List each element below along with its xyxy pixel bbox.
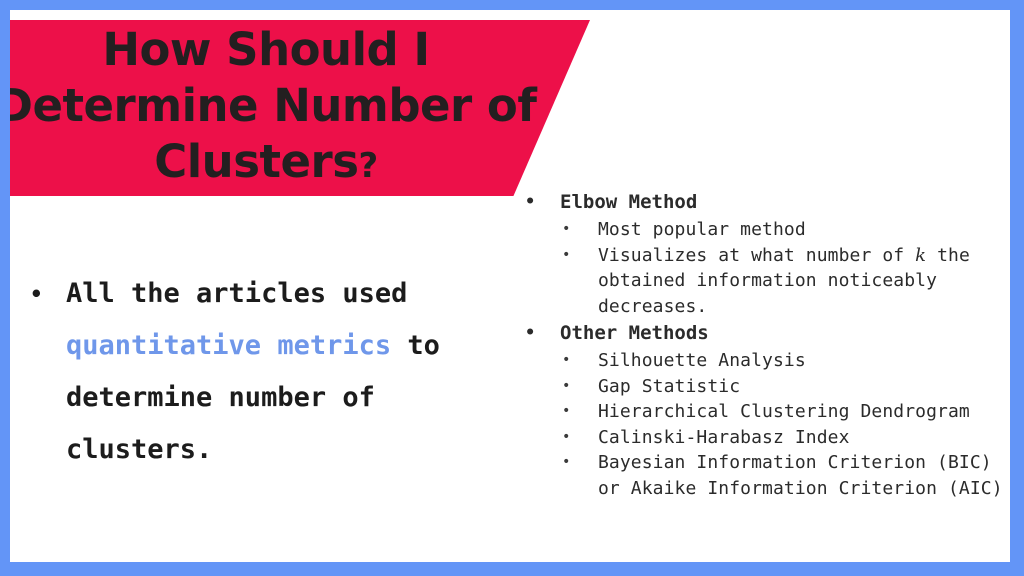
right-heading-other-methods-label: Other Methods [560,322,709,344]
page-title: How Should I Determine Number of Cluster… [10,20,522,196]
right-heading-elbow-method-label: Elbow Method [560,191,697,213]
slide-root: How Should I Determine Number of Cluster… [0,0,1024,576]
left-bullet-item: • All the articles used quantitative met… [18,268,488,476]
right-subitem-other-5-label: Bayesian Information Criterion (BIC) or … [598,452,1003,499]
right-subitem-elbow-1: • Most popular method [510,217,1010,243]
right-subitem-other-5: • Bayesian Information Criterion (BIC) o… [510,450,1010,501]
right-content-column: • Elbow Method • Most popular method • V… [510,188,1010,501]
title-line-2: Determine Number of [10,78,536,134]
slide-canvas: How Should I Determine Number of Cluster… [10,10,1010,562]
title-line-1: How Should I [102,22,429,78]
right-subitem-elbow-1-label: Most popular method [598,219,806,240]
bullet-icon: • [562,217,571,243]
bullet-icon: • [562,374,571,400]
bullet-icon: • [562,450,571,476]
right-subitem-other-4-label: Calinski-Harabasz Index [598,427,850,448]
left-paragraph-highlight: quantitative metrics [66,330,391,361]
right-heading-other-methods: • Other Methods [510,319,1010,348]
bullet-icon: • [562,399,571,425]
title-line-3-text: Clusters [154,135,358,188]
title-question-mark: ? [359,146,378,186]
right-subitem-other-1-label: Silhouette Analysis [598,350,806,371]
bullet-icon: • [562,425,571,451]
right-subitem-other-3-label: Hierarchical Clustering Dendrogram [598,401,970,422]
left-paragraph-part1: All the articles used [66,278,407,309]
right-subitem-other-1: • Silhouette Analysis [510,348,1010,374]
bullet-icon: • [562,348,571,374]
bullet-icon: • [525,319,535,348]
right-subitem-elbow-2: • Visualizes at what number of k the obt… [510,243,1010,320]
right-subitem-other-2: • Gap Statistic [510,374,1010,400]
bullet-icon: • [30,268,43,320]
right-subitem-elbow-2-pre: Visualizes at what number of [598,245,915,266]
right-heading-elbow-method: • Elbow Method [510,188,1010,217]
bullet-icon: • [525,188,535,217]
right-subitem-other-3: • Hierarchical Clustering Dendrogram [510,399,1010,425]
bullet-icon: • [562,243,571,269]
right-subitem-elbow-2-variable-k: k [915,245,926,266]
left-content-column: • All the articles used quantitative met… [18,268,488,476]
title-line-3: Clusters? [154,134,378,194]
right-subitem-other-4: • Calinski-Harabasz Index [510,425,1010,451]
right-subitem-other-2-label: Gap Statistic [598,376,740,397]
